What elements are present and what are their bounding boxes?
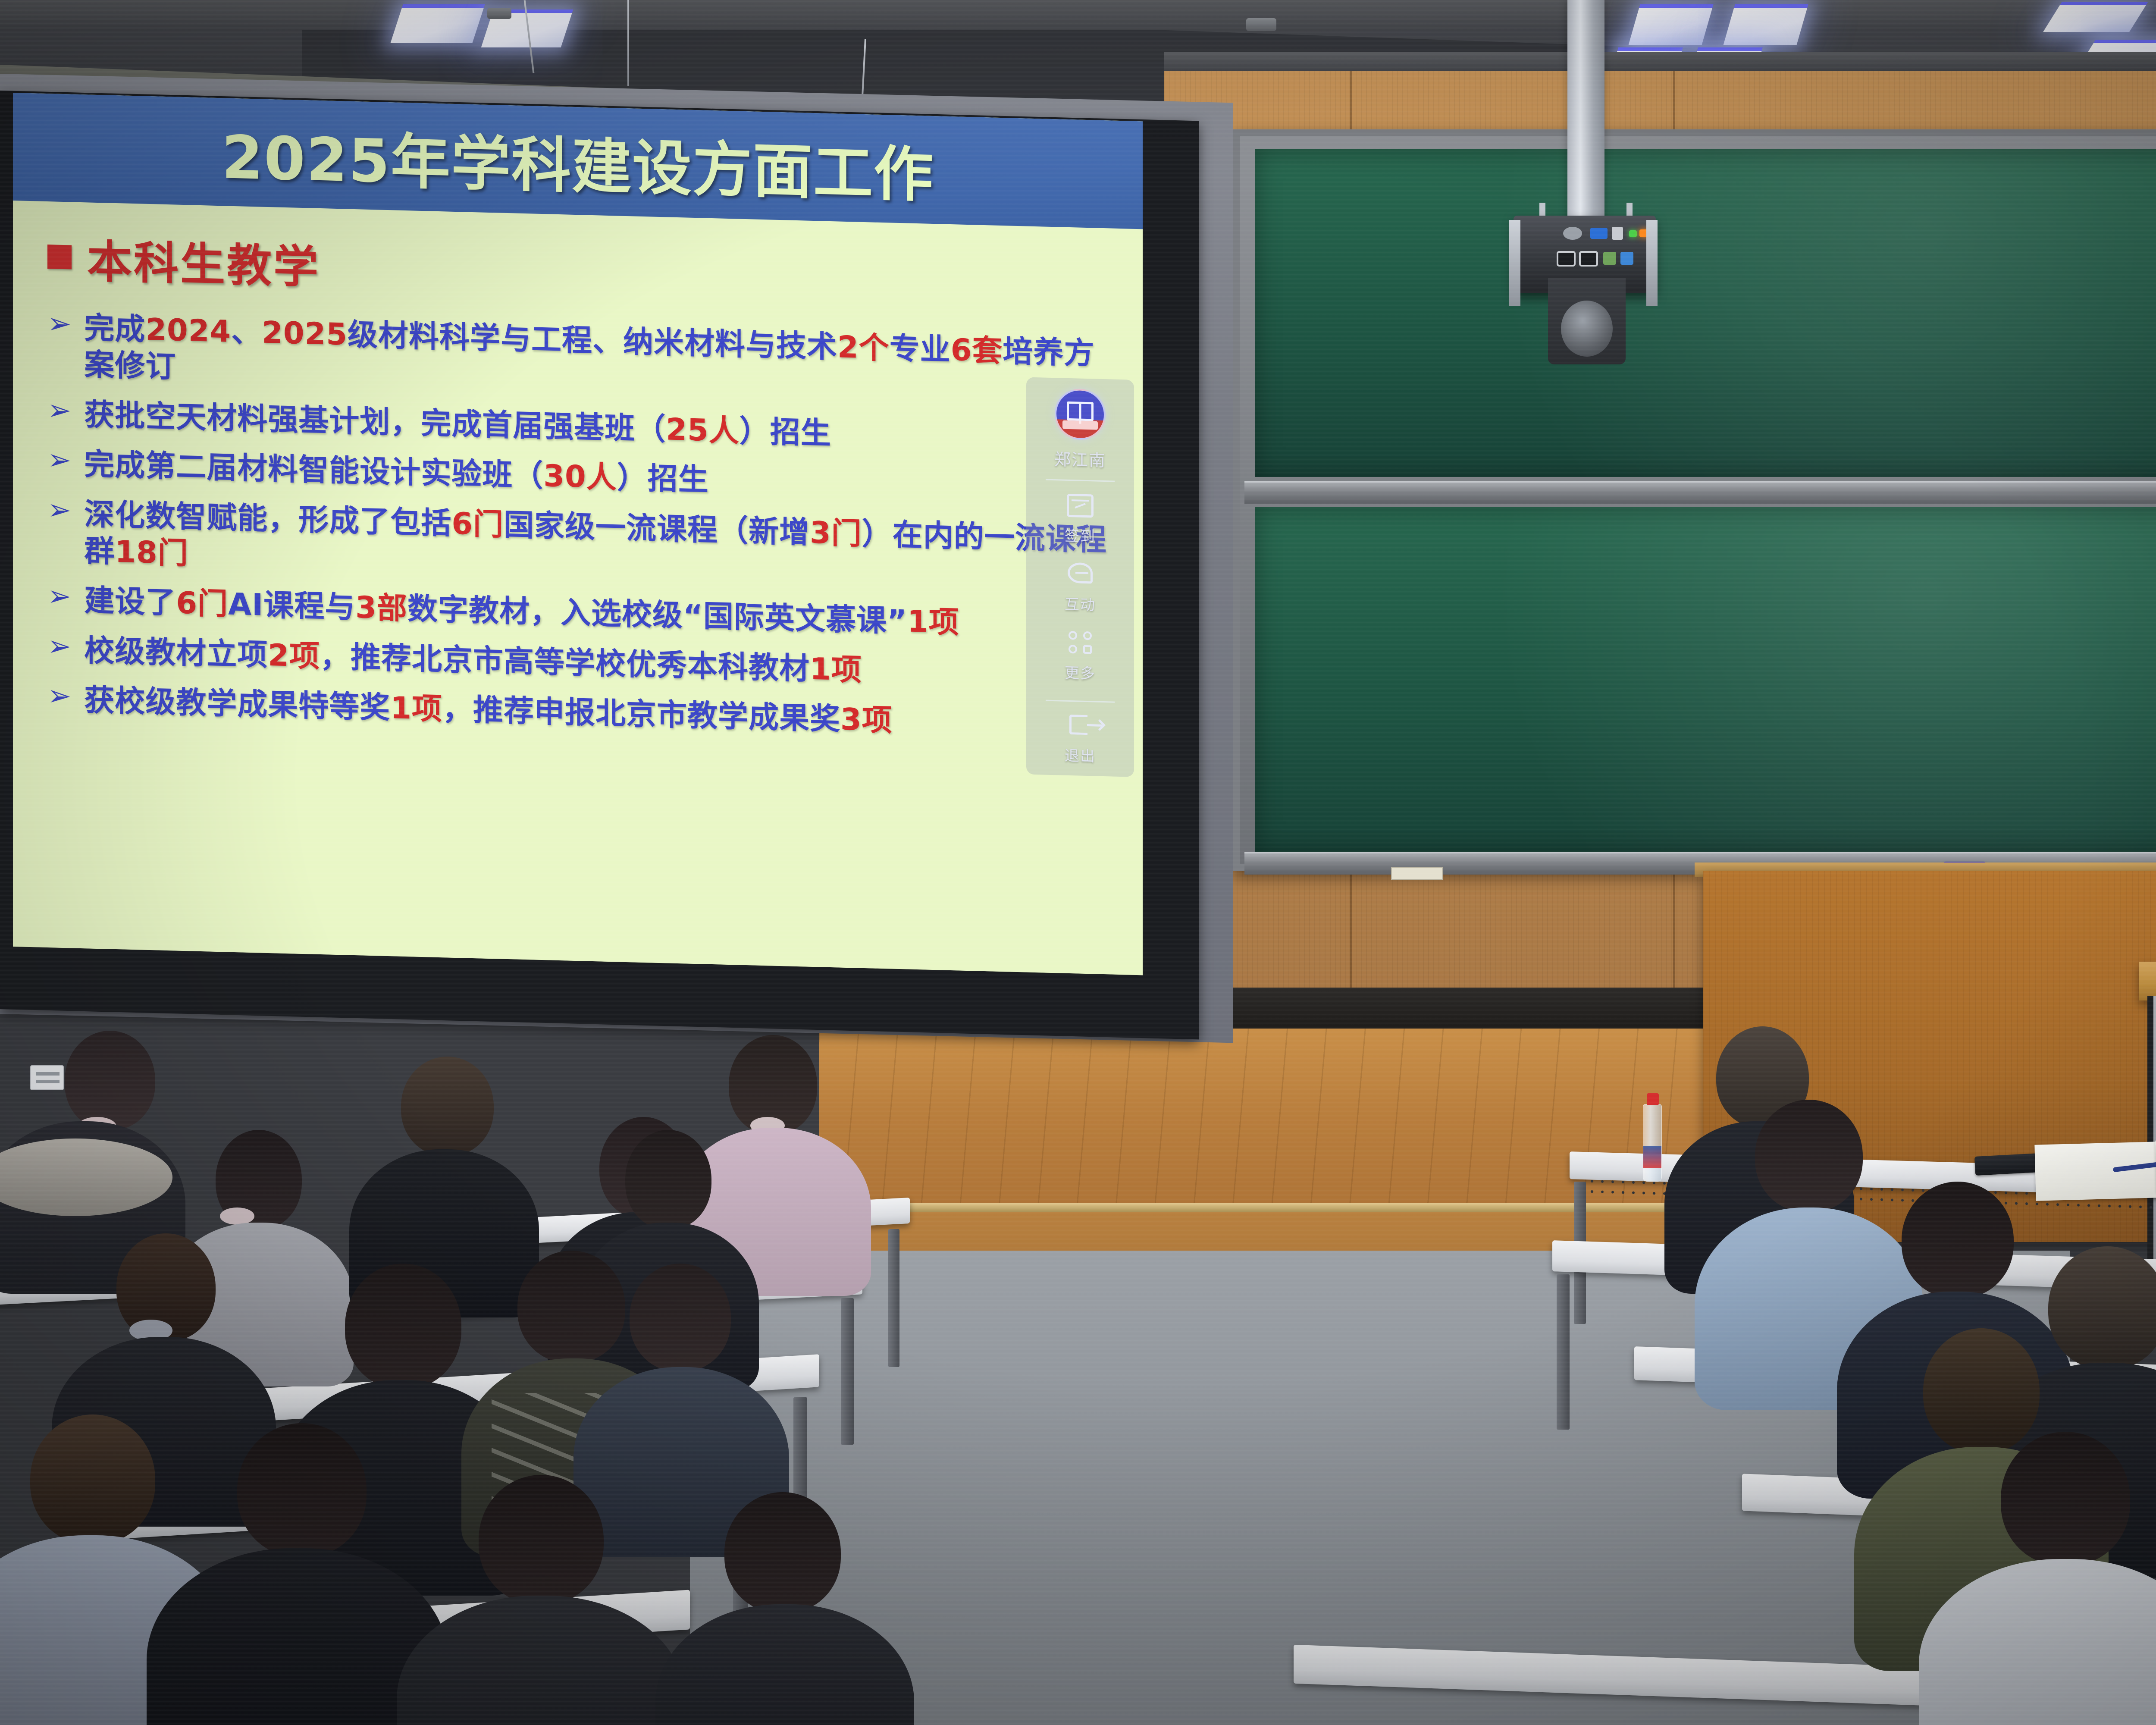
sidebar-divider [1046, 479, 1115, 482]
presenter-desk [2139, 962, 2156, 1000]
bullet-text: 获批空天材料强基计划，完成首届强基班（25人）招生 [84, 396, 831, 452]
head [479, 1475, 604, 1604]
slide-title: 2025年学科建设方面工作 [222, 109, 934, 213]
section-marker-icon [47, 245, 72, 269]
bullet-text: 建设了6门AI课程与3部数字教材，入选校级“国际英文慕课”1项 [84, 583, 959, 642]
sidebar-item-check-in[interactable]: 签到 [1062, 492, 1098, 546]
classroom-app-sidebar[interactable]: 郑江南 签到 互动 更多 [1026, 377, 1134, 777]
bullet-arrow-icon: ➢ [47, 495, 71, 524]
smoke-detector-icon [487, 8, 511, 19]
audience-member [410, 1475, 677, 1725]
chalkboard-mid-rail [1244, 481, 2156, 504]
projector-jack [1557, 251, 1576, 267]
ceiling-light-1 [1628, 4, 1713, 45]
ceiling-light-2 [1723, 4, 1808, 45]
bullet-text: 获校级教学成果特等奖1项，推荐申报北京市教学成果奖3项 [84, 682, 892, 739]
sidebar-item-more[interactable]: 更多 [1062, 629, 1098, 683]
head [345, 1264, 461, 1389]
torso [397, 1596, 686, 1725]
board-maker-label [1391, 867, 1443, 880]
projector-foot-right [1646, 220, 1658, 306]
interaction-bubble-icon [1062, 561, 1098, 588]
sidebar-item-label: 更多 [1065, 661, 1096, 683]
sidebar-item-label: 互动 [1065, 593, 1096, 615]
projector-lens [1548, 278, 1626, 364]
projection-screen: 2025年学科建设方面工作 本科生教学 ➢ 完成2024、2025级材料科学与工… [13, 93, 1143, 975]
slide-body: 本科生教学 ➢ 完成2024、2025级材料科学与工程、纳米材料与技术2个专业6… [13, 201, 1143, 975]
head [401, 1057, 494, 1156]
green-chalkboard [1233, 129, 2156, 871]
sidebar-item-label: 签到 [1065, 524, 1096, 546]
torso [1919, 1559, 2156, 1725]
projector-port [1590, 228, 1608, 239]
bullet-arrow-icon: ➢ [47, 445, 71, 474]
torso [655, 1604, 914, 1725]
water-bottle[interactable] [1643, 1104, 1662, 1182]
lecture-hall-scene: 2025年学科建设方面工作 本科生教学 ➢ 完成2024、2025级材料科学与工… [0, 0, 2156, 1725]
slide-bullet: ➢ 完成2024、2025级材料科学与工程、纳米材料与技术2个专业6套培养方案修… [47, 309, 1108, 409]
projector-jack [1579, 251, 1598, 267]
head [65, 1031, 155, 1130]
book-badge-logo-icon [1055, 388, 1106, 440]
head [30, 1414, 155, 1544]
bullet-arrow-icon: ➢ [47, 309, 71, 337]
more-grid-icon [1062, 629, 1098, 657]
projector-status-led-green [1629, 230, 1637, 237]
chalkboard-panel-bottom [1255, 507, 2156, 852]
check-in-icon [1062, 492, 1098, 520]
head [237, 1423, 367, 1557]
hanging-wire-2 [627, 0, 629, 86]
audience-member [1932, 1432, 2156, 1725]
bullet-text: 完成第二届材料智能设计实验班（30人）招生 [84, 446, 708, 499]
logo-ribbon-shape [1062, 420, 1098, 430]
presentation-slide: 2025年学科建设方面工作 本科生教学 ➢ 完成2024、2025级材料科学与工… [13, 93, 1143, 975]
audience-member [354, 1057, 535, 1281]
bullet-text: 深化数智赋能，形成了包括6门国家级一流课程（新增3门）在内的一流课程群18门 [84, 496, 1108, 596]
sidebar-item-exit[interactable]: 退出 [1062, 712, 1098, 766]
desk-leg [1557, 1274, 1570, 1430]
wall-top-trim [1164, 52, 2156, 71]
bullet-text: 校级教材立项2项，推荐北京市高等学校优秀本科教材1项 [84, 632, 862, 689]
ceiling-speaker-icon [1246, 18, 1276, 31]
sidebar-divider [1046, 700, 1115, 703]
desk-leg [888, 1229, 899, 1367]
exit-door-icon [1062, 712, 1098, 740]
ceiling-light-7 [390, 4, 485, 43]
app-user-name: 郑江南 [1054, 446, 1106, 471]
projector-port [1563, 227, 1582, 240]
desk-leg [841, 1298, 854, 1445]
head [625, 1130, 711, 1229]
audience-member [664, 1492, 906, 1725]
ceiling-band [0, 0, 2156, 30]
smartphone[interactable] [1974, 1153, 2040, 1176]
section-heading-text: 本科生教学 [87, 225, 320, 296]
head [2001, 1432, 2130, 1565]
head [630, 1264, 731, 1371]
sidebar-item-label: 退出 [1065, 744, 1096, 766]
projector-port [1620, 252, 1633, 265]
bullet-arrow-icon: ➢ [47, 681, 71, 709]
logo-book-shape [1067, 401, 1094, 421]
hair-tie [220, 1207, 254, 1225]
slide-section-heading: 本科生教学 [47, 224, 1108, 316]
slide-bullet: ➢ 深化数智赋能，形成了包括6门国家级一流课程（新增3门）在内的一流课程群18门 [47, 495, 1108, 596]
projector-port [1612, 227, 1623, 240]
projector-foot-left [1509, 220, 1520, 306]
bullet-arrow-icon: ➢ [47, 395, 71, 424]
projector-port [1603, 252, 1616, 265]
audience-member [164, 1423, 440, 1725]
bullet-arrow-icon: ➢ [47, 581, 71, 610]
bullet-arrow-icon: ➢ [47, 631, 71, 660]
sidebar-item-interaction[interactable]: 互动 [1062, 561, 1098, 615]
head [724, 1492, 841, 1613]
chalkboard-panel-top [1255, 149, 2156, 477]
bullet-text: 完成2024、2025级材料科学与工程、纳米材料与技术2个专业6套培养方案修订 [84, 310, 1108, 409]
